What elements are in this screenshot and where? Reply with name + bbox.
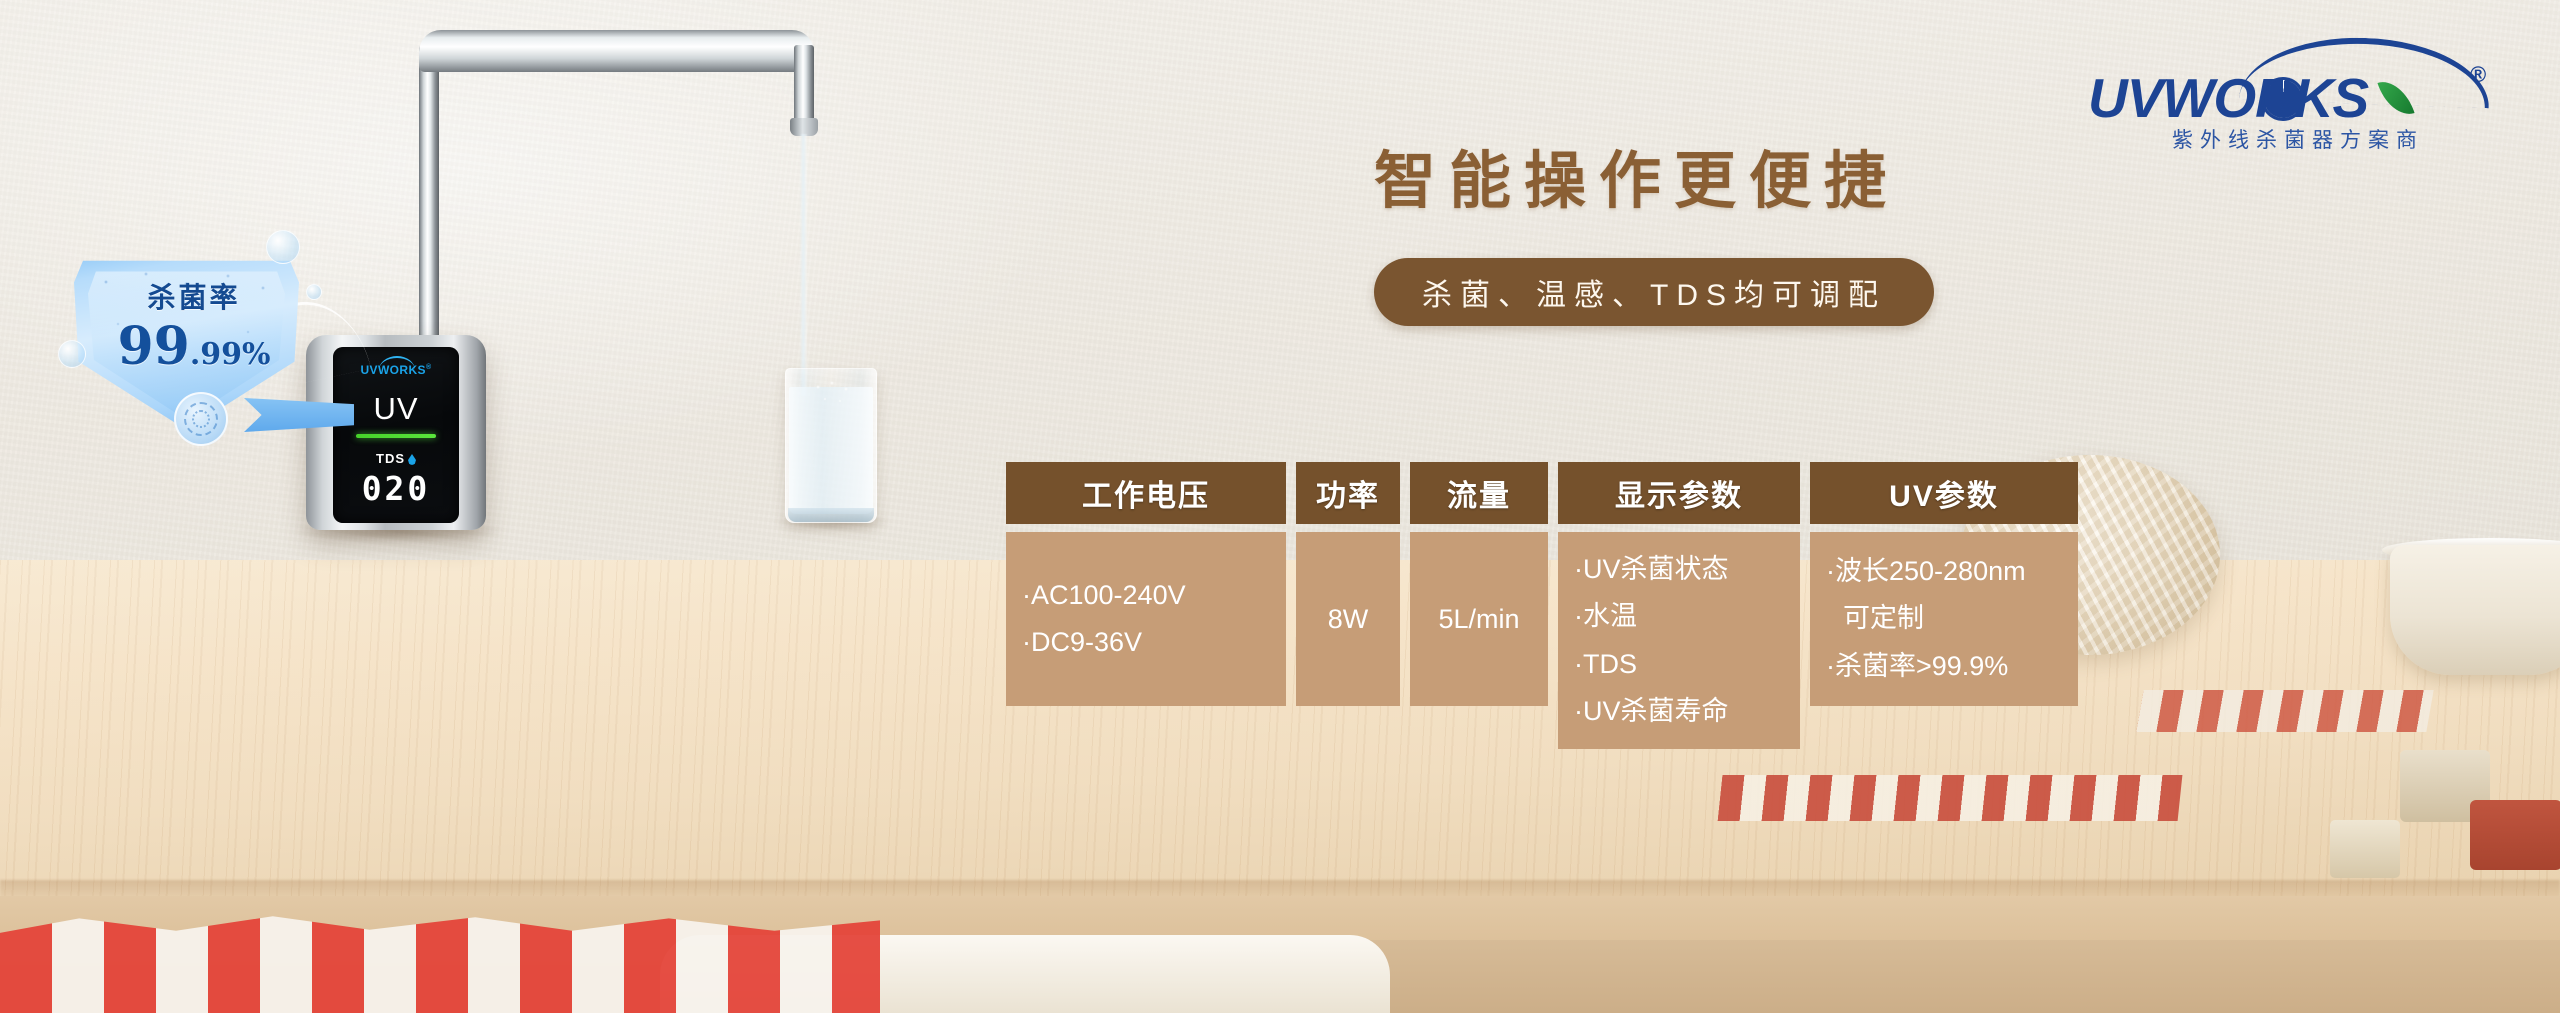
spec-header-flow: 流量 bbox=[1410, 462, 1548, 524]
device-logo-arc-icon bbox=[379, 356, 415, 370]
feature-pill: 杀菌、温感、TDS均可调配 bbox=[1374, 258, 1934, 326]
spec-column-display: 显示参数 ·UV杀菌状态 ·水温 ·TDS ·UV杀菌寿命 bbox=[1558, 462, 1800, 749]
water-stream bbox=[800, 134, 807, 396]
device-display-panel: UVWORKS® UV TDS 020 bbox=[333, 347, 459, 523]
spec-column-uv: UV参数 ·波长250-280nm 可定制 ·杀菌率>99.9% bbox=[1810, 462, 2078, 706]
striped-mat-front bbox=[1718, 775, 2183, 821]
spec-cell-line: ·DC9-36V bbox=[1022, 619, 1270, 666]
spec-cell-line: ·水温 bbox=[1574, 593, 1784, 640]
water-glass bbox=[785, 368, 877, 523]
sterilization-rate-badge: 杀菌率 99.99% bbox=[44, 222, 344, 472]
spec-cell-line: ·TDS bbox=[1574, 641, 1784, 688]
spec-header-power: 功率 bbox=[1296, 462, 1400, 524]
water-drop-icon bbox=[408, 454, 416, 465]
germ-icon bbox=[174, 392, 228, 446]
badge-percentage-major: 99 bbox=[117, 316, 189, 377]
spec-cell-line: 5L/min bbox=[1438, 604, 1519, 635]
spec-column-voltage: 工作电压 ·AC100-240V ·DC9-36V bbox=[1006, 462, 1286, 706]
spec-cell-line: ·AC100-240V bbox=[1022, 572, 1270, 619]
badge-ribbon bbox=[244, 398, 354, 432]
spec-body-display: ·UV杀菌状态 ·水温 ·TDS ·UV杀菌寿命 bbox=[1558, 532, 1800, 749]
device-status-bar bbox=[356, 434, 436, 438]
spec-header-voltage: 工作电压 bbox=[1006, 462, 1286, 524]
spec-cell-line: ·UV杀菌状态 bbox=[1574, 546, 1784, 593]
badge-percentage: 99.99% bbox=[44, 316, 344, 377]
device-metric-label: TDS bbox=[333, 451, 459, 466]
spec-header-display: 显示参数 bbox=[1558, 462, 1800, 524]
badge-label: 杀菌率 bbox=[44, 276, 344, 316]
registered-trademark-icon: ® bbox=[2470, 62, 2486, 88]
badge-percentage-minor: .99% bbox=[190, 337, 271, 372]
decor-block-red bbox=[2470, 800, 2560, 870]
spec-column-flow: 流量 5L/min bbox=[1410, 462, 1548, 706]
spec-body-uv: ·波长250-280nm 可定制 ·杀菌率>99.9% bbox=[1810, 532, 2078, 706]
spec-body-flow: 5L/min bbox=[1410, 532, 1548, 706]
spec-header-uv: UV参数 bbox=[1810, 462, 2078, 524]
water-splash bbox=[810, 381, 856, 415]
device-logo-registered: ® bbox=[426, 364, 432, 371]
brand-logo: UVWORKS ® 紫外线杀菌器方案商 bbox=[2088, 36, 2508, 154]
spec-cell-line: 可定制 bbox=[1826, 595, 2062, 642]
ceramic-bowl bbox=[2390, 545, 2560, 675]
faucet-riser bbox=[419, 45, 439, 345]
spec-cell-line: ·波长250-280nm bbox=[1826, 548, 2062, 595]
decor-block-cream bbox=[2330, 820, 2400, 878]
glass-base bbox=[788, 508, 874, 522]
spec-body-voltage: ·AC100-240V ·DC9-36V bbox=[1006, 532, 1286, 706]
spec-cell-line: ·杀菌率>99.9% bbox=[1826, 643, 2062, 690]
faucet-arch bbox=[419, 30, 814, 72]
spec-cell-line: ·UV杀菌寿命 bbox=[1574, 688, 1784, 735]
spec-column-power: 功率 8W bbox=[1296, 462, 1400, 706]
bubble-icon bbox=[266, 230, 300, 264]
device-metric-label-text: TDS bbox=[376, 451, 405, 466]
page-title: 智能操作更便捷 bbox=[1374, 130, 1899, 220]
logo-tagline: 紫外线杀菌器方案商 bbox=[2094, 124, 2502, 154]
spec-cell-line: 8W bbox=[1328, 604, 1369, 635]
striped-mat-back bbox=[2136, 690, 2433, 732]
spec-body-power: 8W bbox=[1296, 532, 1400, 706]
device-metric-value: 020 bbox=[333, 469, 459, 508]
specification-table: 工作电压 ·AC100-240V ·DC9-36V 功率 8W 流量 5L/mi… bbox=[1006, 462, 2078, 749]
sun-burst-icon bbox=[2264, 80, 2302, 118]
feature-pill-label: 杀菌、温感、TDS均可调配 bbox=[1422, 270, 1886, 314]
